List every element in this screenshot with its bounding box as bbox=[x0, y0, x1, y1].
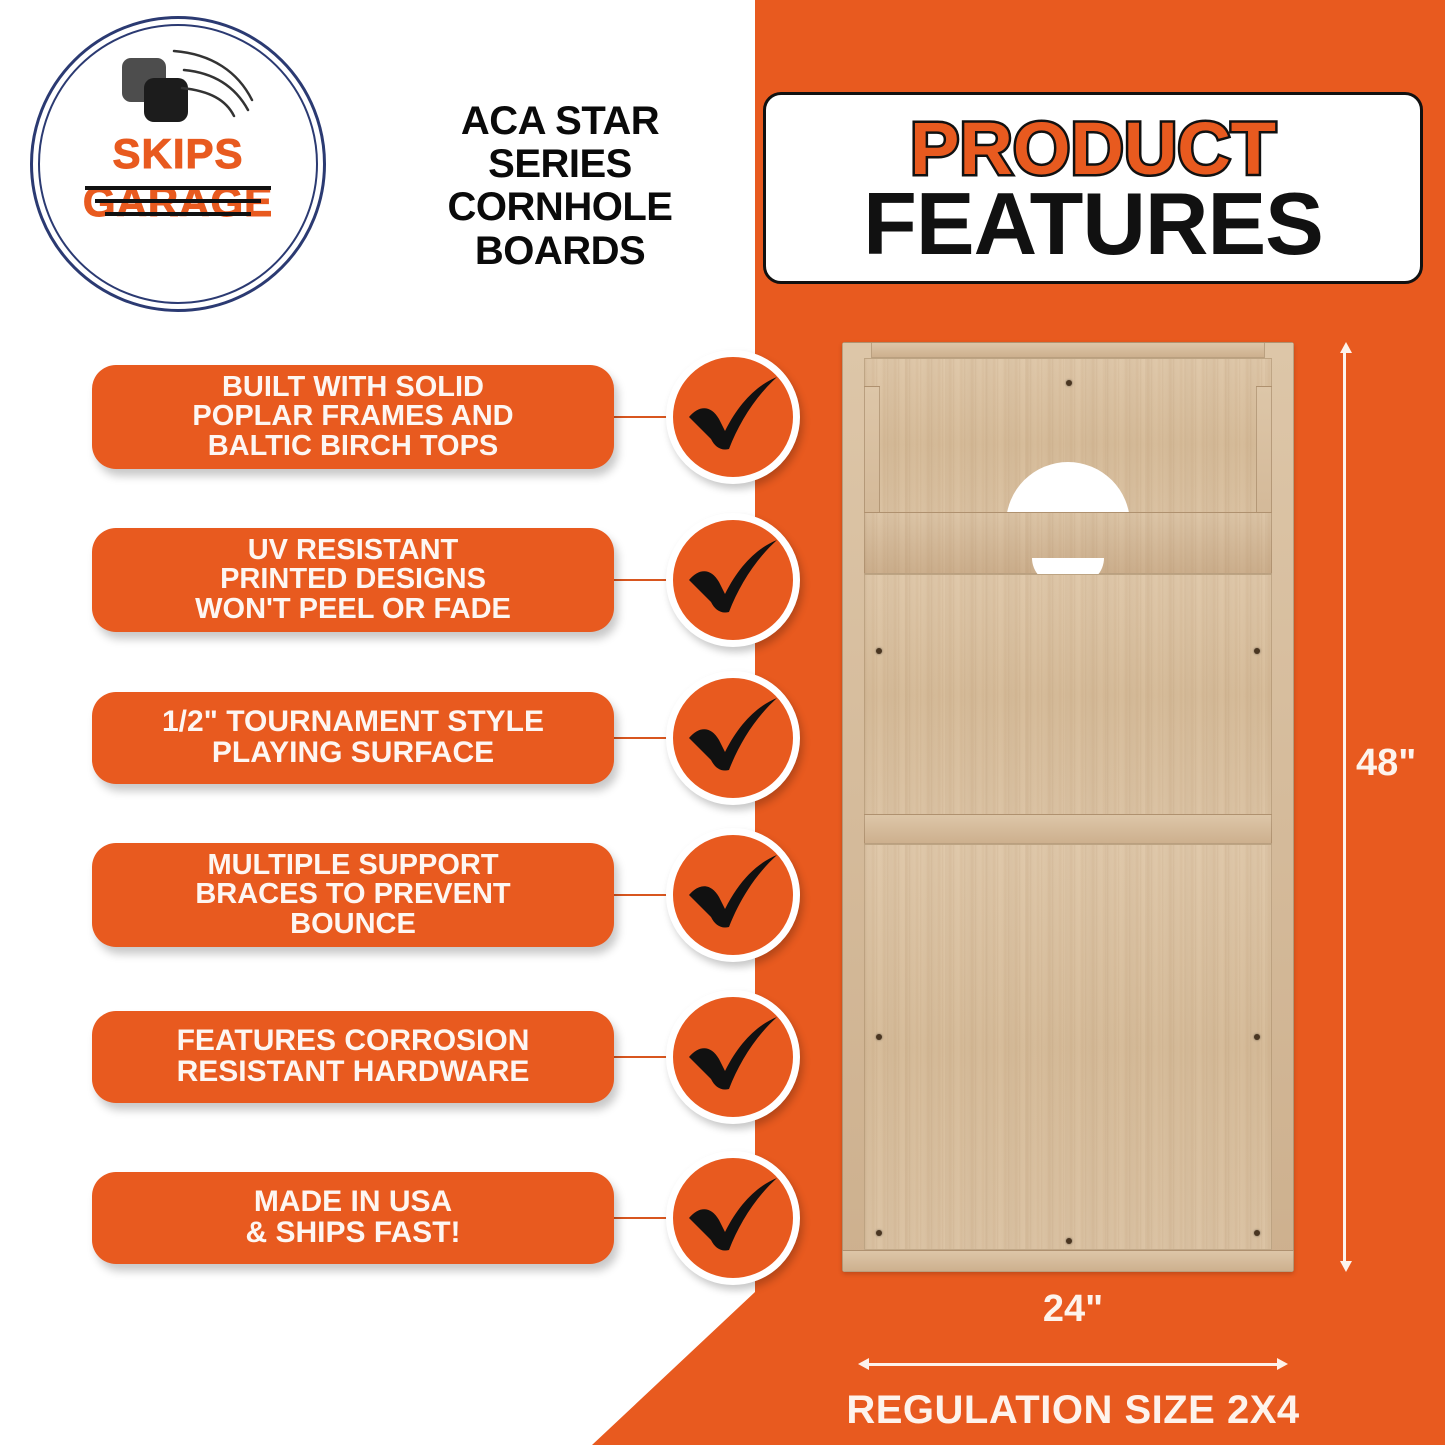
height-dimension-label: 48" bbox=[1356, 742, 1416, 785]
board-bottom-rail bbox=[842, 1250, 1294, 1272]
product-title-line-1: ACA STAR bbox=[390, 100, 730, 143]
check-icon bbox=[666, 513, 800, 647]
width-dimension-label: 24" bbox=[858, 1288, 1288, 1331]
feature-row-support-braces: MULTIPLE SUPPORTBRACES TO PREVENTBOUNCE bbox=[92, 825, 792, 965]
feature-row-uv-resistant: UV RESISTANTPRINTED DESIGNSWON'T PEEL OR… bbox=[92, 510, 792, 650]
screw-icon bbox=[1254, 648, 1260, 654]
feature-text-line-2: POPLAR FRAMES AND bbox=[110, 402, 596, 432]
arrow-up-icon bbox=[1340, 342, 1352, 353]
logo-bar-1 bbox=[85, 186, 271, 190]
feature-text-line-1: MULTIPLE SUPPORT bbox=[110, 851, 596, 881]
regulation-size-note: REGULATION SIZE 2X4 bbox=[838, 1388, 1308, 1433]
feature-text-line-2: RESISTANT HARDWARE bbox=[110, 1057, 596, 1088]
check-icon bbox=[666, 671, 800, 805]
brand-logo: SKIPS GARAGE bbox=[22, 8, 372, 320]
screw-icon bbox=[1254, 1034, 1260, 1040]
feature-text-line-3: WON'T PEEL OR FADE bbox=[110, 595, 596, 625]
feature-text-line-1: BUILT WITH SOLID bbox=[110, 373, 596, 403]
banner-line-features: FEATURES bbox=[863, 181, 1323, 267]
board-mid-panel bbox=[864, 574, 1272, 816]
feature-text-line-1: FEATURES CORROSION bbox=[110, 1026, 596, 1057]
screw-icon bbox=[1066, 1238, 1072, 1244]
board-second-brace bbox=[864, 814, 1272, 844]
logo-bar-2 bbox=[95, 199, 261, 203]
board-top-rail bbox=[842, 342, 1294, 358]
feature-pill-hardware[interactable]: FEATURES CORROSIONRESISTANT HARDWARE bbox=[92, 1011, 614, 1103]
screw-icon bbox=[876, 1230, 882, 1236]
check-icon bbox=[666, 1151, 800, 1285]
wood-grain-texture bbox=[865, 575, 1271, 815]
board-lower-panel bbox=[864, 844, 1272, 1250]
infographic-canvas: SKIPS GARAGE ACA STAR SERIES CORNHOLE BO… bbox=[0, 0, 1445, 1445]
product-features-banner: PRODUCT FEATURES bbox=[763, 92, 1423, 284]
feature-pill-playing-surface[interactable]: 1/2" TOURNAMENT STYLEPLAYING SURFACE bbox=[92, 692, 614, 784]
feature-text-line-1: MADE IN USA bbox=[110, 1187, 596, 1218]
product-title: ACA STAR SERIES CORNHOLE BOARDS bbox=[390, 100, 730, 273]
check-icon bbox=[666, 350, 800, 484]
product-title-line-2: SERIES bbox=[390, 143, 730, 186]
feature-row-materials: BUILT WITH SOLIDPOPLAR FRAMES ANDBALTIC … bbox=[92, 347, 792, 487]
cornhole-board-image bbox=[842, 342, 1294, 1272]
product-title-line-3: CORNHOLE bbox=[390, 186, 730, 229]
feature-row-playing-surface: 1/2" TOURNAMENT STYLEPLAYING SURFACE bbox=[92, 668, 792, 808]
feature-pill-support-braces[interactable]: MULTIPLE SUPPORTBRACES TO PREVENTBOUNCE bbox=[92, 843, 614, 947]
product-title-line-4: BOARDS bbox=[390, 230, 730, 273]
dimension-shaft bbox=[1343, 351, 1346, 1263]
logo-bar-3 bbox=[105, 212, 251, 216]
feature-text-line-2: PRINTED DESIGNS bbox=[110, 565, 596, 595]
feature-text-line-2: BRACES TO PREVENT bbox=[110, 880, 596, 910]
logo-underline-bars bbox=[22, 186, 334, 225]
dimension-shaft bbox=[867, 1363, 1279, 1366]
feature-row-hardware: FEATURES CORROSIONRESISTANT HARDWARE bbox=[92, 987, 792, 1127]
feature-text-line-1: 1/2" TOURNAMENT STYLE bbox=[110, 707, 596, 738]
feature-text-line-2: PLAYING SURFACE bbox=[110, 738, 596, 769]
check-icon bbox=[666, 990, 800, 1124]
feature-text-line-3: BALTIC BIRCH TOPS bbox=[110, 432, 596, 462]
feature-text-line-3: BOUNCE bbox=[110, 910, 596, 940]
screw-icon bbox=[1254, 1230, 1260, 1236]
feature-row-made-in-usa: MADE IN USA& SHIPS FAST! bbox=[92, 1148, 792, 1288]
screw-icon bbox=[876, 648, 882, 654]
feature-text-line-2: & SHIPS FAST! bbox=[110, 1218, 596, 1249]
screw-icon bbox=[1066, 380, 1072, 386]
arrow-right-icon bbox=[1277, 1358, 1288, 1370]
screw-icon bbox=[876, 1034, 882, 1040]
arrow-down-icon bbox=[1340, 1261, 1352, 1272]
motion-arcs-icon bbox=[172, 48, 262, 123]
wood-grain-texture bbox=[865, 845, 1271, 1249]
width-dimension-arrow bbox=[858, 1358, 1288, 1372]
height-dimension-arrow bbox=[1340, 342, 1348, 1272]
feature-pill-uv-resistant[interactable]: UV RESISTANTPRINTED DESIGNSWON'T PEEL OR… bbox=[92, 528, 614, 632]
feature-pill-materials[interactable]: BUILT WITH SOLIDPOPLAR FRAMES ANDBALTIC … bbox=[92, 365, 614, 469]
feature-text-line-1: UV RESISTANT bbox=[110, 536, 596, 566]
check-icon bbox=[666, 828, 800, 962]
feature-pill-made-in-usa[interactable]: MADE IN USA& SHIPS FAST! bbox=[92, 1172, 614, 1264]
